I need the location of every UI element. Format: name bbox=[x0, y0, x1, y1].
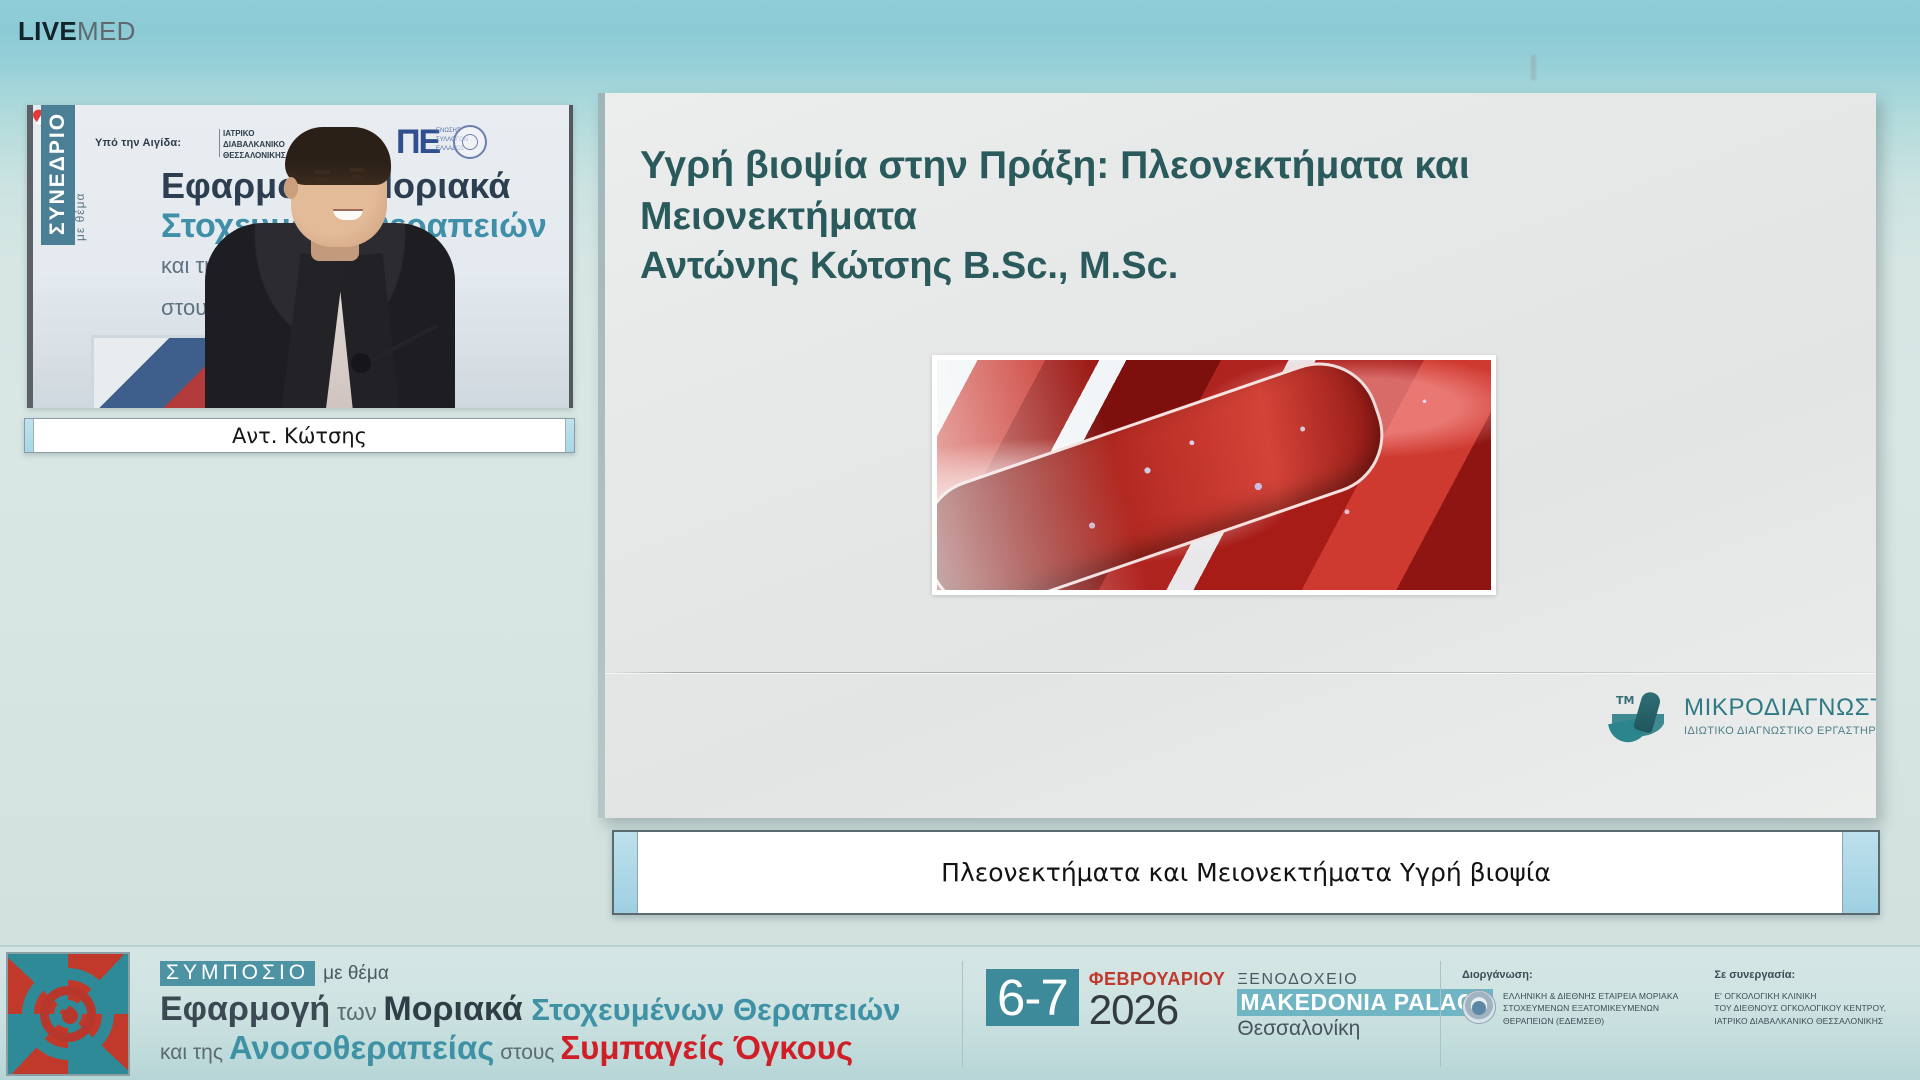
backdrop-rule bbox=[219, 129, 220, 157]
venue-city: Θεσσαλονίκη bbox=[1237, 1017, 1493, 1041]
event-banner: ΣΥΜΠΟΣΙΟμε θέμα Εφαρμογή των Μοριακά Στο… bbox=[0, 945, 1920, 1080]
logo-company-subtitle: ΙΔΙΩΤΙΚΟ ΔΙΑΓΝΩΣΤΙΚΟ ΕΡΓΑΣΤΗΡΙΟ bbox=[1684, 725, 1876, 737]
speaker-name-bar[interactable]: Αντ. Κώτσης bbox=[24, 418, 575, 453]
speaker-bar-accent-right bbox=[565, 419, 574, 452]
speaker-hair bbox=[285, 127, 391, 185]
speaker-eyebrow-right bbox=[349, 168, 365, 172]
speaker-ear bbox=[284, 177, 298, 199]
livemed-logo[interactable]: LIVEMED bbox=[18, 18, 136, 44]
event-title-line3: και της Ανοσοθεραπείας στους Συμπαγείς Ό… bbox=[160, 1030, 950, 1066]
collaboration-label: Σε συνεργασία: bbox=[1714, 969, 1886, 981]
title-word-sympageis-ogkous: Συμπαγείς Όγκους bbox=[560, 1029, 853, 1066]
backdrop-aegis-label: Υπό την Αιγίδα: bbox=[95, 137, 181, 149]
collaboration-column: Σε συνεργασία: Ε' ΟΓΚΟΛΟΓΙΚΗ ΚΛΙΝΙΚΗ ΤΟΥ… bbox=[1714, 969, 1886, 1027]
slide-title-line3: Αντώνης Κώτσης B.Sc., M.Sc. bbox=[640, 242, 1836, 291]
title-word-therapeion: Θεραπειών bbox=[724, 992, 900, 1027]
organizer-label: Διοργάνωση: bbox=[1462, 969, 1678, 981]
symposium-line: ΣΥΜΠΟΣΙΟμε θέμα bbox=[160, 961, 950, 986]
speaker-eyebrow-left bbox=[314, 170, 330, 174]
collaboration-name-text: Ε' ΟΓΚΟΛΟΓΙΚΗ ΚΛΙΝΙΚΗ ΤΟΥ ΔΙΕΘΝΟΥΣ ΟΓΚΟΛ… bbox=[1714, 990, 1886, 1027]
caption-accent-left bbox=[614, 832, 638, 913]
backdrop-pe-mark: ΠΕ bbox=[396, 123, 439, 162]
blood-tube-image bbox=[932, 355, 1496, 595]
session-caption-bar[interactable]: Πλεονεκτήματα και Μειονεκτήματα Υγρή βιο… bbox=[612, 830, 1880, 915]
backdrop-side-word: ΣΥΝΕΔΡΙΟ bbox=[41, 105, 75, 245]
banner-separator-1 bbox=[962, 961, 963, 1067]
venue-name: MAKEDONIA PALACE bbox=[1237, 989, 1493, 1016]
logo-live-text: LIVE bbox=[18, 18, 77, 44]
speaker-video-panel[interactable]: Υπό την Αιγίδα: ΙΑΤΡΙΚΟ ΔΙΑΒΑΛΚΑΝΙΚΟ ΘΕΣ… bbox=[27, 105, 573, 408]
slide-left-accent-bar bbox=[598, 93, 605, 818]
title-word-anosotherapeias: Ανοσοθεραπείας bbox=[229, 1029, 495, 1066]
microphone-icon bbox=[351, 353, 371, 373]
event-venue-block: ΞΕΝΟΔΟΧΕΙΟ MAKEDONIA PALACE Θεσσαλονίκη bbox=[1237, 971, 1493, 1041]
event-date-block: 6-7 ΦΕΒΡΟΥΑΡΙΟΥ 2026 ΞΕΝΟΔΟΧΕΙΟ MAKEDONI… bbox=[986, 969, 1493, 1041]
symposium-subtitle: με θέμα bbox=[323, 963, 389, 984]
title-word-stous: στους bbox=[494, 1041, 560, 1064]
organizer-seal-icon bbox=[1462, 990, 1496, 1024]
organizer-column: Διοργάνωση: ΕΛΛΗΝΙΚΗ & ΔΙΕΘΝΗΣ ΕΤΑΙΡΕΙΑ … bbox=[1462, 969, 1678, 1027]
event-year: 2026 bbox=[1089, 990, 1226, 1030]
event-emblem-icon bbox=[6, 952, 130, 1076]
caption-accent-right bbox=[1842, 832, 1878, 913]
backdrop-institution-text: ΙΑΤΡΙΚΟ ΔΙΑΒΑΛΚΑΝΙΚΟ ΘΕΣΣΑΛΟΝΙΚΗΣ bbox=[223, 129, 286, 161]
caption-title-text: Πλεονεκτήματα και Μειονεκτήματα Υγρή βιο… bbox=[941, 858, 1551, 887]
backdrop-line4a: στου bbox=[161, 295, 207, 321]
speaker-bar-accent-left bbox=[25, 419, 34, 452]
title-word-stoxeumenon: Στοχευμένων bbox=[523, 992, 725, 1027]
event-days: 6-7 bbox=[986, 969, 1079, 1026]
speaker-eye-right bbox=[351, 175, 363, 180]
trademark-mark: TM bbox=[1616, 694, 1634, 707]
venue-type-label: ΞΕΝΟΔΟΧΕΙΟ bbox=[1237, 971, 1493, 989]
title-word-kaitis: και της bbox=[160, 1041, 229, 1064]
title-word-ton: των bbox=[330, 999, 383, 1026]
backdrop-seal-icon bbox=[453, 125, 487, 159]
event-title-line2: Εφαρμογή των Μοριακά Στοχευμένων Θεραπει… bbox=[160, 991, 950, 1028]
logo-company-name: ΜΙΚΡΟΔΙΑΓΝΩΣΤΙΚΗ bbox=[1684, 694, 1876, 722]
speaker-eye-left bbox=[316, 177, 328, 182]
slide-title: Υγρή βιοψία στην Πράξη: Πλεονεκτήματα κα… bbox=[640, 141, 1836, 292]
backdrop-side-subtitle: με θέμα bbox=[73, 193, 87, 241]
microdiagnostiki-logo: TM ΜΙΚΡΟΔΙΑΓΝΩΣΤΙΚΗ ΙΔΙΩΤΙΚΟ ΔΙΑΓΝΩΣΤΙΚΟ… bbox=[1608, 688, 1858, 758]
logo-med-text: MED bbox=[77, 18, 136, 44]
organizers-block: Διοργάνωση: ΕΛΛΗΝΙΚΗ & ΔΙΕΘΝΗΣ ΕΤΑΙΡΕΙΑ … bbox=[1462, 969, 1886, 1027]
presentation-slide-panel[interactable]: Υγρή βιοψία στην Πράξη: Πλεονεκτήματα κα… bbox=[598, 93, 1876, 818]
symposium-badge: ΣΥΜΠΟΣΙΟ bbox=[160, 961, 315, 986]
logo-text-block: ΜΙΚΡΟΔΙΑΓΝΩΣΤΙΚΗ ΙΔΙΩΤΙΚΟ ΔΙΑΓΝΩΣΤΙΚΟ ΕΡ… bbox=[1684, 694, 1876, 737]
slide-title-line1: Υγρή βιοψία στην Πράξη: Πλεονεκτήματα κα… bbox=[640, 141, 1836, 192]
slide-horizontal-divider bbox=[605, 672, 1876, 673]
title-word-moriaka: Μοριακά bbox=[383, 990, 522, 1028]
event-title-block: ΣΥΜΠΟΣΙΟμε θέμα Εφαρμογή των Μοριακά Στο… bbox=[160, 961, 950, 1066]
speaker-name-label: Αντ. Κώτσης bbox=[232, 424, 367, 448]
top-divider-artifact bbox=[1531, 55, 1536, 80]
slide-title-line2: Μειονεκτήματα bbox=[640, 192, 1836, 243]
banner-separator-2 bbox=[1440, 961, 1441, 1067]
video-stage: Υπό την Αιγίδα: ΙΑΤΡΙΚΟ ΔΙΑΒΑΛΚΑΝΙΚΟ ΘΕΣ… bbox=[33, 105, 569, 408]
event-month-year: ΦΕΒΡΟΥΑΡΙΟΥ 2026 bbox=[1089, 969, 1226, 1030]
organizer-name-text: ΕΛΛΗΝΙΚΗ & ΔΙΕΘΝΗΣ ΕΤΑΙΡΕΙΑ ΜΟΡΙΑΚΑ ΣΤΟΧ… bbox=[1503, 990, 1678, 1027]
title-word-efarmogi: Εφαρμογή bbox=[160, 990, 330, 1028]
